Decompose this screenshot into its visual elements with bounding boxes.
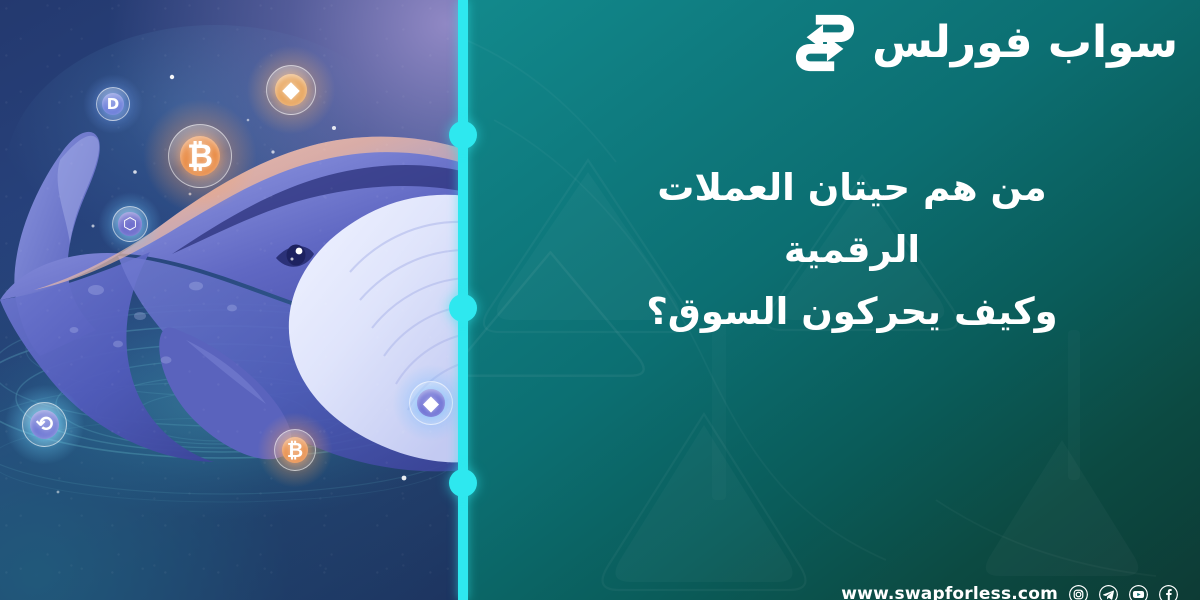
- crypto-whales-banner: D ₿ ◆ ⬡ ⟲ ₿ ◆: [0, 0, 1200, 600]
- ethereum-coin-icon: ◆: [266, 65, 316, 115]
- headline-line-2: الرقمية: [532, 220, 1172, 280]
- polygon-coin-icon: ⬡: [112, 206, 148, 242]
- chainlink-coin-icon: ⟲: [22, 402, 67, 447]
- logo-wordmark: سواب فورلس: [872, 21, 1178, 65]
- facebook-icon[interactable]: [1159, 585, 1178, 600]
- divider-dot-top: [449, 121, 477, 149]
- website-url[interactable]: www.swapforless.com: [841, 584, 1058, 600]
- instagram-icon[interactable]: [1069, 585, 1088, 600]
- telegram-icon[interactable]: [1099, 585, 1118, 600]
- bitcoin-coin-icon: ₿: [168, 124, 232, 188]
- brand-logo[interactable]: سواب فورلس: [794, 12, 1178, 74]
- divider-dot-bottom: [449, 469, 477, 497]
- headline-line-1: من هم حيتان العملات: [532, 158, 1172, 218]
- content-panel: سواب فورلس من هم حيتان العملات الرقمية و…: [466, 0, 1200, 600]
- ethereum-coin-small-icon: ◆: [409, 381, 453, 425]
- bitcoin-coin-small-icon: ₿: [274, 429, 316, 471]
- swap-arrows-s-icon: [794, 12, 856, 74]
- headline: من هم حيتان العملات الرقمية وكيف يحركون …: [532, 158, 1172, 342]
- youtube-icon[interactable]: [1129, 585, 1148, 600]
- panel-divider: [458, 0, 468, 600]
- footer-bar: www.swapforless.com: [841, 584, 1178, 600]
- divider-dot-middle: [449, 294, 477, 322]
- dash-coin-icon: D: [96, 87, 130, 121]
- headline-line-3: وكيف يحركون السوق؟: [532, 282, 1172, 342]
- whale-illustration-panel: D ₿ ◆ ⬡ ⟲ ₿ ◆: [0, 0, 466, 600]
- whale-illustration-svg: [0, 0, 466, 600]
